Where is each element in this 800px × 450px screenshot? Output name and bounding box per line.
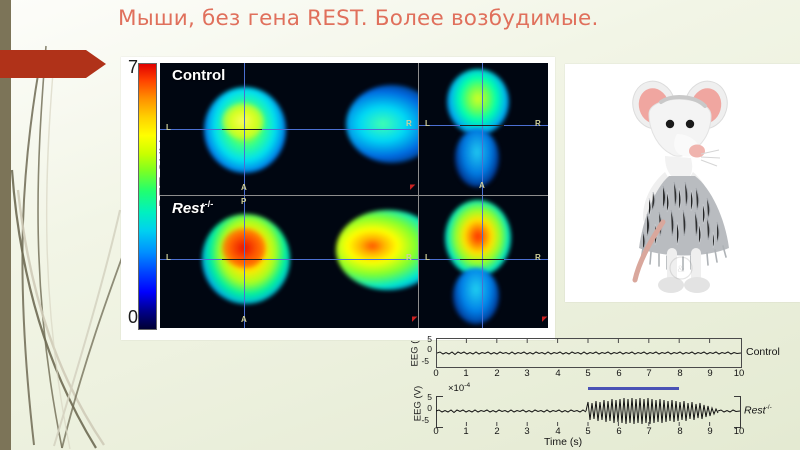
eeg-xtick-c-8: 8 <box>673 368 687 379</box>
pet-corner-marker-3: ◤ <box>542 315 547 323</box>
slide-canvas: Мыши, без гена REST. Более возбудимые. 7… <box>0 0 800 450</box>
eeg-xtick-c-7: 7 <box>642 368 656 379</box>
orientation-right-top-right-cell: R <box>535 119 541 128</box>
orientation-left-top-right-cell: L <box>425 119 430 128</box>
eeg-ytick-rest-m5: -5 <box>415 415 429 425</box>
eeg-chart-panel: EEG ( 5 0 -5 0 1 2 3 4 5 6 7 8 9 10 Cont… <box>404 332 800 450</box>
eeg-xaxis-label: Time (s) <box>544 436 582 448</box>
eeg-ytick-control-5: 5 <box>418 334 432 344</box>
eeg-seizure-marker-bar <box>588 387 679 390</box>
eeg-xtick-r-6: 6 <box>612 426 626 437</box>
eeg-xtick-r-2: 2 <box>490 426 504 437</box>
eeg-xtick-r-9: 9 <box>703 426 717 437</box>
pet-column-divider <box>418 63 419 328</box>
eeg-trace-rest <box>436 396 741 426</box>
eeg-xtick-c-1: 1 <box>459 368 473 379</box>
eeg-xtick-r-0: 0 <box>429 426 443 437</box>
orientation-left-bottom: L <box>166 253 171 262</box>
pet-row-label-control: Control <box>172 67 225 84</box>
eeg-xtick-r-5: 5 <box>581 426 595 437</box>
eeg-ytick-control-0: 0 <box>418 344 432 354</box>
eeg-xtick-c-4: 4 <box>551 368 565 379</box>
mouse-photo-panel: & <box>565 64 800 302</box>
accent-arrow-shape <box>0 48 106 80</box>
eeg-xtick-r-10: 10 <box>732 426 746 437</box>
orientation-anterior-top: A <box>241 183 247 192</box>
eeg-xticks-control <box>436 338 741 368</box>
pet-corner-marker-1: ◤ <box>410 183 415 191</box>
eeg-xtick-r-7: 7 <box>642 426 656 437</box>
pet-colorbar <box>138 63 157 330</box>
eeg-ytick-rest-0: 0 <box>418 403 432 413</box>
svg-text:&: & <box>677 264 684 274</box>
orientation-right-bottom: R <box>406 253 412 262</box>
eeg-xtick-r-8: 8 <box>673 426 687 437</box>
eeg-xtick-r-3: 3 <box>520 426 534 437</box>
eeg-ytick-control-m5: -5 <box>415 356 429 366</box>
eeg-series-label-control: Control <box>746 346 780 358</box>
pet-figure-panel: 7 0 PET SUV <box>121 57 555 340</box>
eeg-xtick-c-6: 6 <box>612 368 626 379</box>
orientation-left-bottom-right-cell: L <box>425 253 430 262</box>
eeg-xtick-r-1: 1 <box>459 426 473 437</box>
mouse-photo-inner: & <box>573 72 792 294</box>
orientation-anterior-top-right: A <box>479 181 485 190</box>
pet-row-divider <box>160 195 548 196</box>
pet-row-label-rest: Rest-/- <box>172 199 213 217</box>
eeg-ytick-rest-5: 5 <box>418 392 432 402</box>
eeg-scale-exponent: ×10-4 <box>448 382 470 394</box>
pet-scale-max-label: 7 <box>128 57 138 78</box>
page-title: Мыши, без гена REST. Более возбудимые. <box>118 6 778 31</box>
eeg-xtick-c-10: 10 <box>732 368 746 379</box>
decorative-grass-graphic <box>0 40 140 450</box>
eeg-xtick-c-9: 9 <box>703 368 717 379</box>
orientation-left-top: L <box>166 123 171 132</box>
eeg-xtick-c-2: 2 <box>490 368 504 379</box>
orientation-right-bottom-right-cell: R <box>535 253 541 262</box>
eeg-xtick-c-5: 5 <box>581 368 595 379</box>
orientation-anterior-bottom: A <box>241 315 247 324</box>
eeg-xtick-c-3: 3 <box>520 368 534 379</box>
orientation-right-top: R <box>406 119 412 128</box>
eeg-xtick-c-0: 0 <box>429 368 443 379</box>
pet-scan-image: Control Rest-/- L R L R A A P L R L R A … <box>160 63 548 328</box>
pet-scale-min-label: 0 <box>128 307 138 328</box>
pet-corner-marker-2: ◤ <box>412 315 417 323</box>
orientation-posterior-bottom: P <box>241 197 246 206</box>
plush-mouse-illustration: & <box>573 72 792 294</box>
eeg-series-label-rest: Rest-/- <box>744 404 772 417</box>
